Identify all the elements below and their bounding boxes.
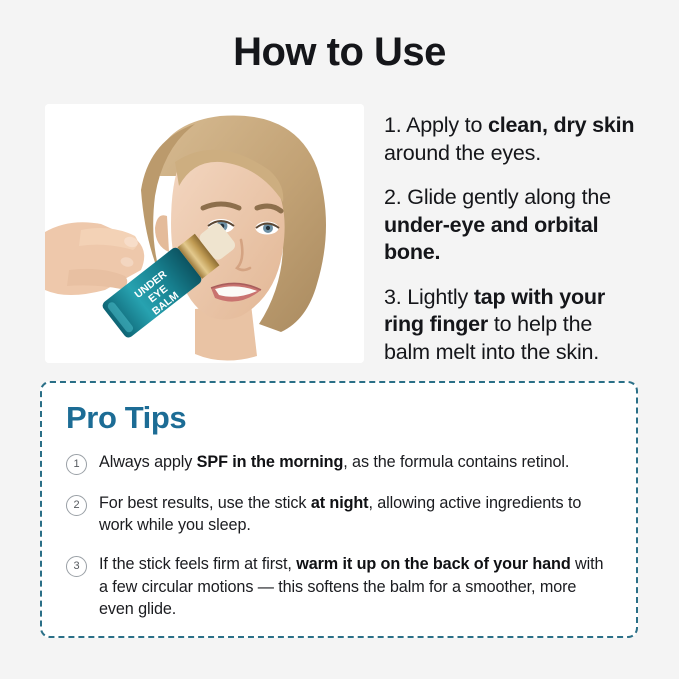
step-text-plain: 1. Apply to [384,113,488,137]
tip-number-badge: 2 [66,495,87,516]
tip-text-bold: at night [311,494,369,512]
tip-text: Always apply SPF in the morning, as the … [99,451,569,473]
list-item: 1 Always apply SPF in the morning, as th… [66,451,612,475]
how-to-use-top-section: UNDER EYE BALM 1. Apply to clean, dry sk… [45,104,640,364]
tip-text-bold: warm it up on the back of your hand [296,555,570,573]
tip-text: If the stick feels firm at first, warm i… [99,553,612,620]
step-text-bold: clean, dry skin [488,113,634,137]
step-text-plain: 3. Lightly [384,285,474,309]
page-title: How to Use [0,30,679,74]
tip-text-plain: For best results, use the stick [99,494,311,512]
pro-tips-panel: Pro Tips 1 Always apply SPF in the morni… [40,381,638,638]
tip-number-badge: 3 [66,556,87,577]
tip-number-badge: 1 [66,454,87,475]
tip-text-plain: Always apply [99,453,197,471]
list-item: 3 If the stick feels firm at first, warm… [66,553,612,620]
tip-text: For best results, use the stick at night… [99,492,612,536]
step-item: 1. Apply to clean, dry skin around the e… [384,112,640,167]
tip-text-plain: If the stick feels firm at first, [99,555,296,573]
how-to-use-steps: 1. Apply to clean, dry skin around the e… [384,104,640,366]
step-text-plain: 2. Glide gently along the [384,185,611,209]
tip-text-plain-2: , as the formula contains retinol. [343,453,569,471]
list-item: 2 For best results, use the stick at nig… [66,492,612,536]
tip-text-bold: SPF in the morning [197,453,344,471]
pro-tips-title: Pro Tips [66,401,612,435]
step-item: 3. Lightly tap with your ring finger to … [384,284,640,367]
how-to-use-page: How to Use [0,0,679,679]
step-text-plain-2: around the eyes. [384,141,541,165]
step-text-bold: under-eye and orbital bone. [384,213,598,265]
step-item: 2. Glide gently along the under-eye and … [384,184,640,267]
product-usage-photo: UNDER EYE BALM [45,104,364,363]
product-usage-illustration: UNDER EYE BALM [45,104,364,363]
